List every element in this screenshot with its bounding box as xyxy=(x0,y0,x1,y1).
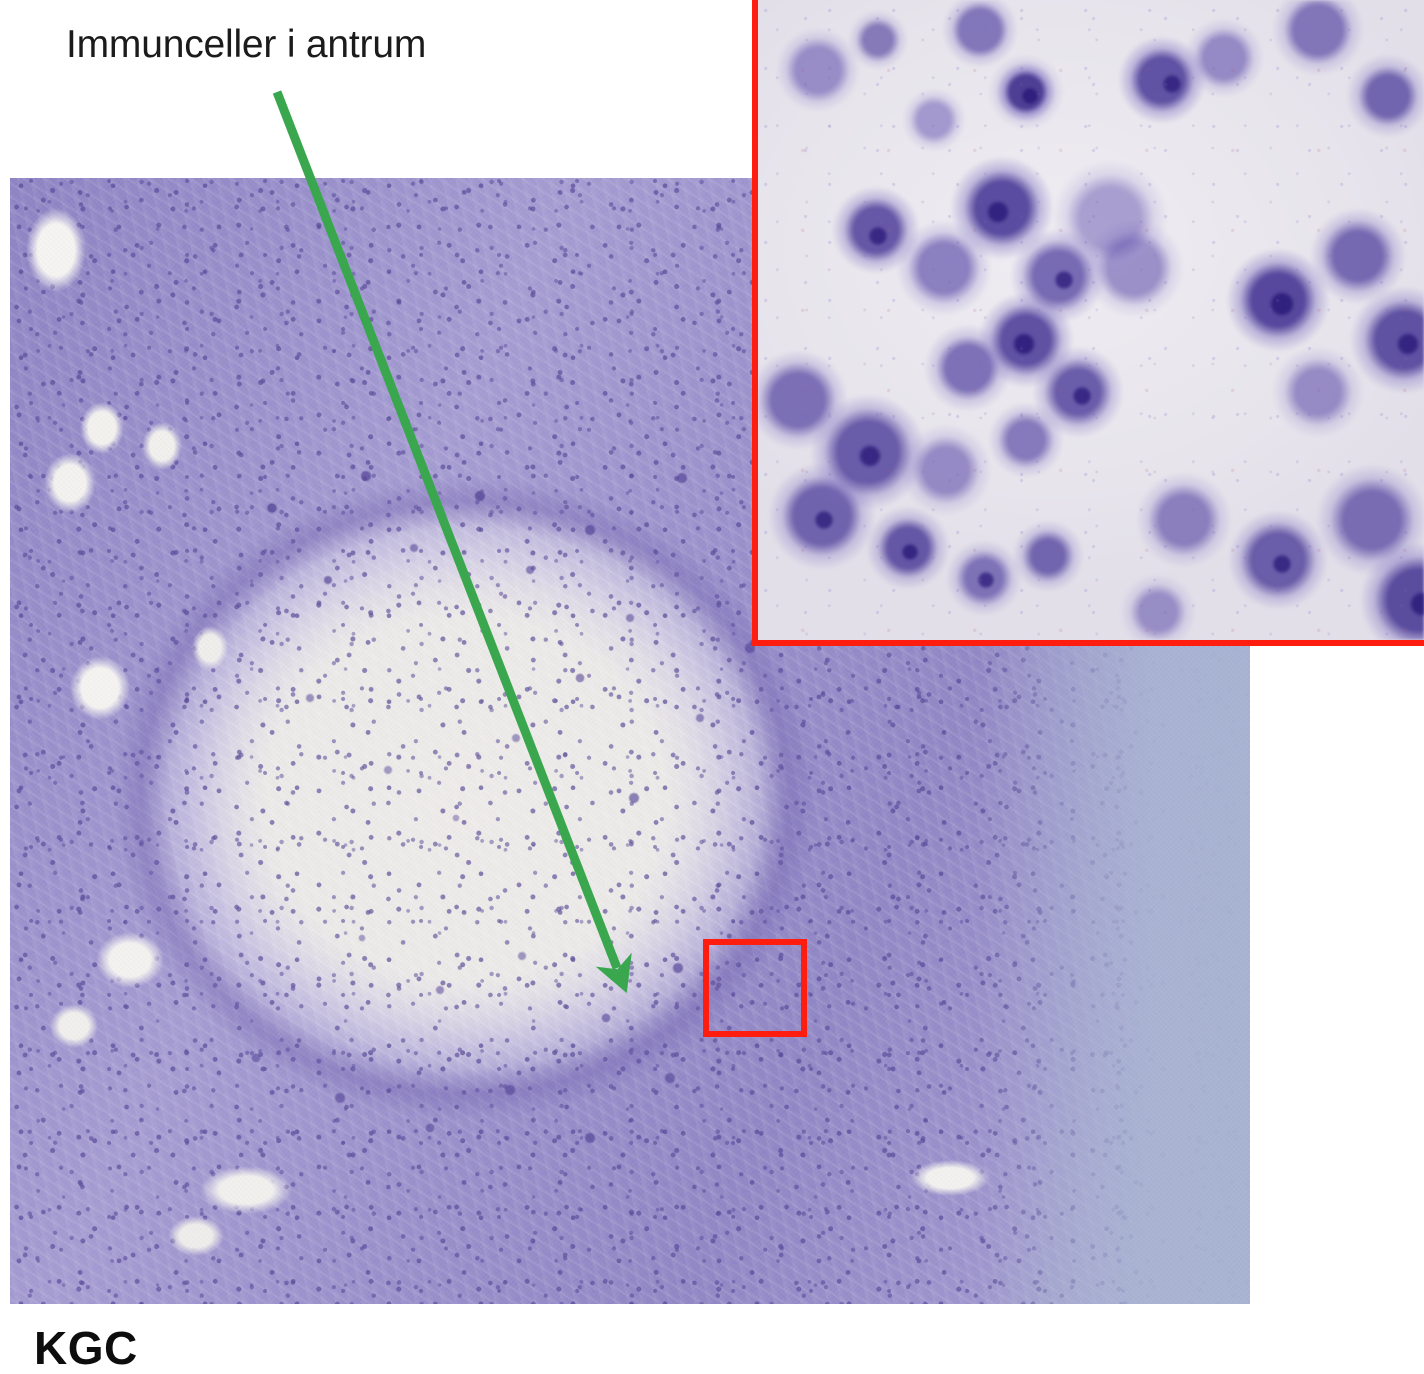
slide-footer-label: KGC xyxy=(34,1322,138,1374)
high-magnification-inset-image xyxy=(752,0,1424,646)
inset-debris-layer xyxy=(758,0,1424,640)
region-of-interest-box xyxy=(703,939,807,1037)
page-title: Immunceller i antrum xyxy=(66,22,426,68)
